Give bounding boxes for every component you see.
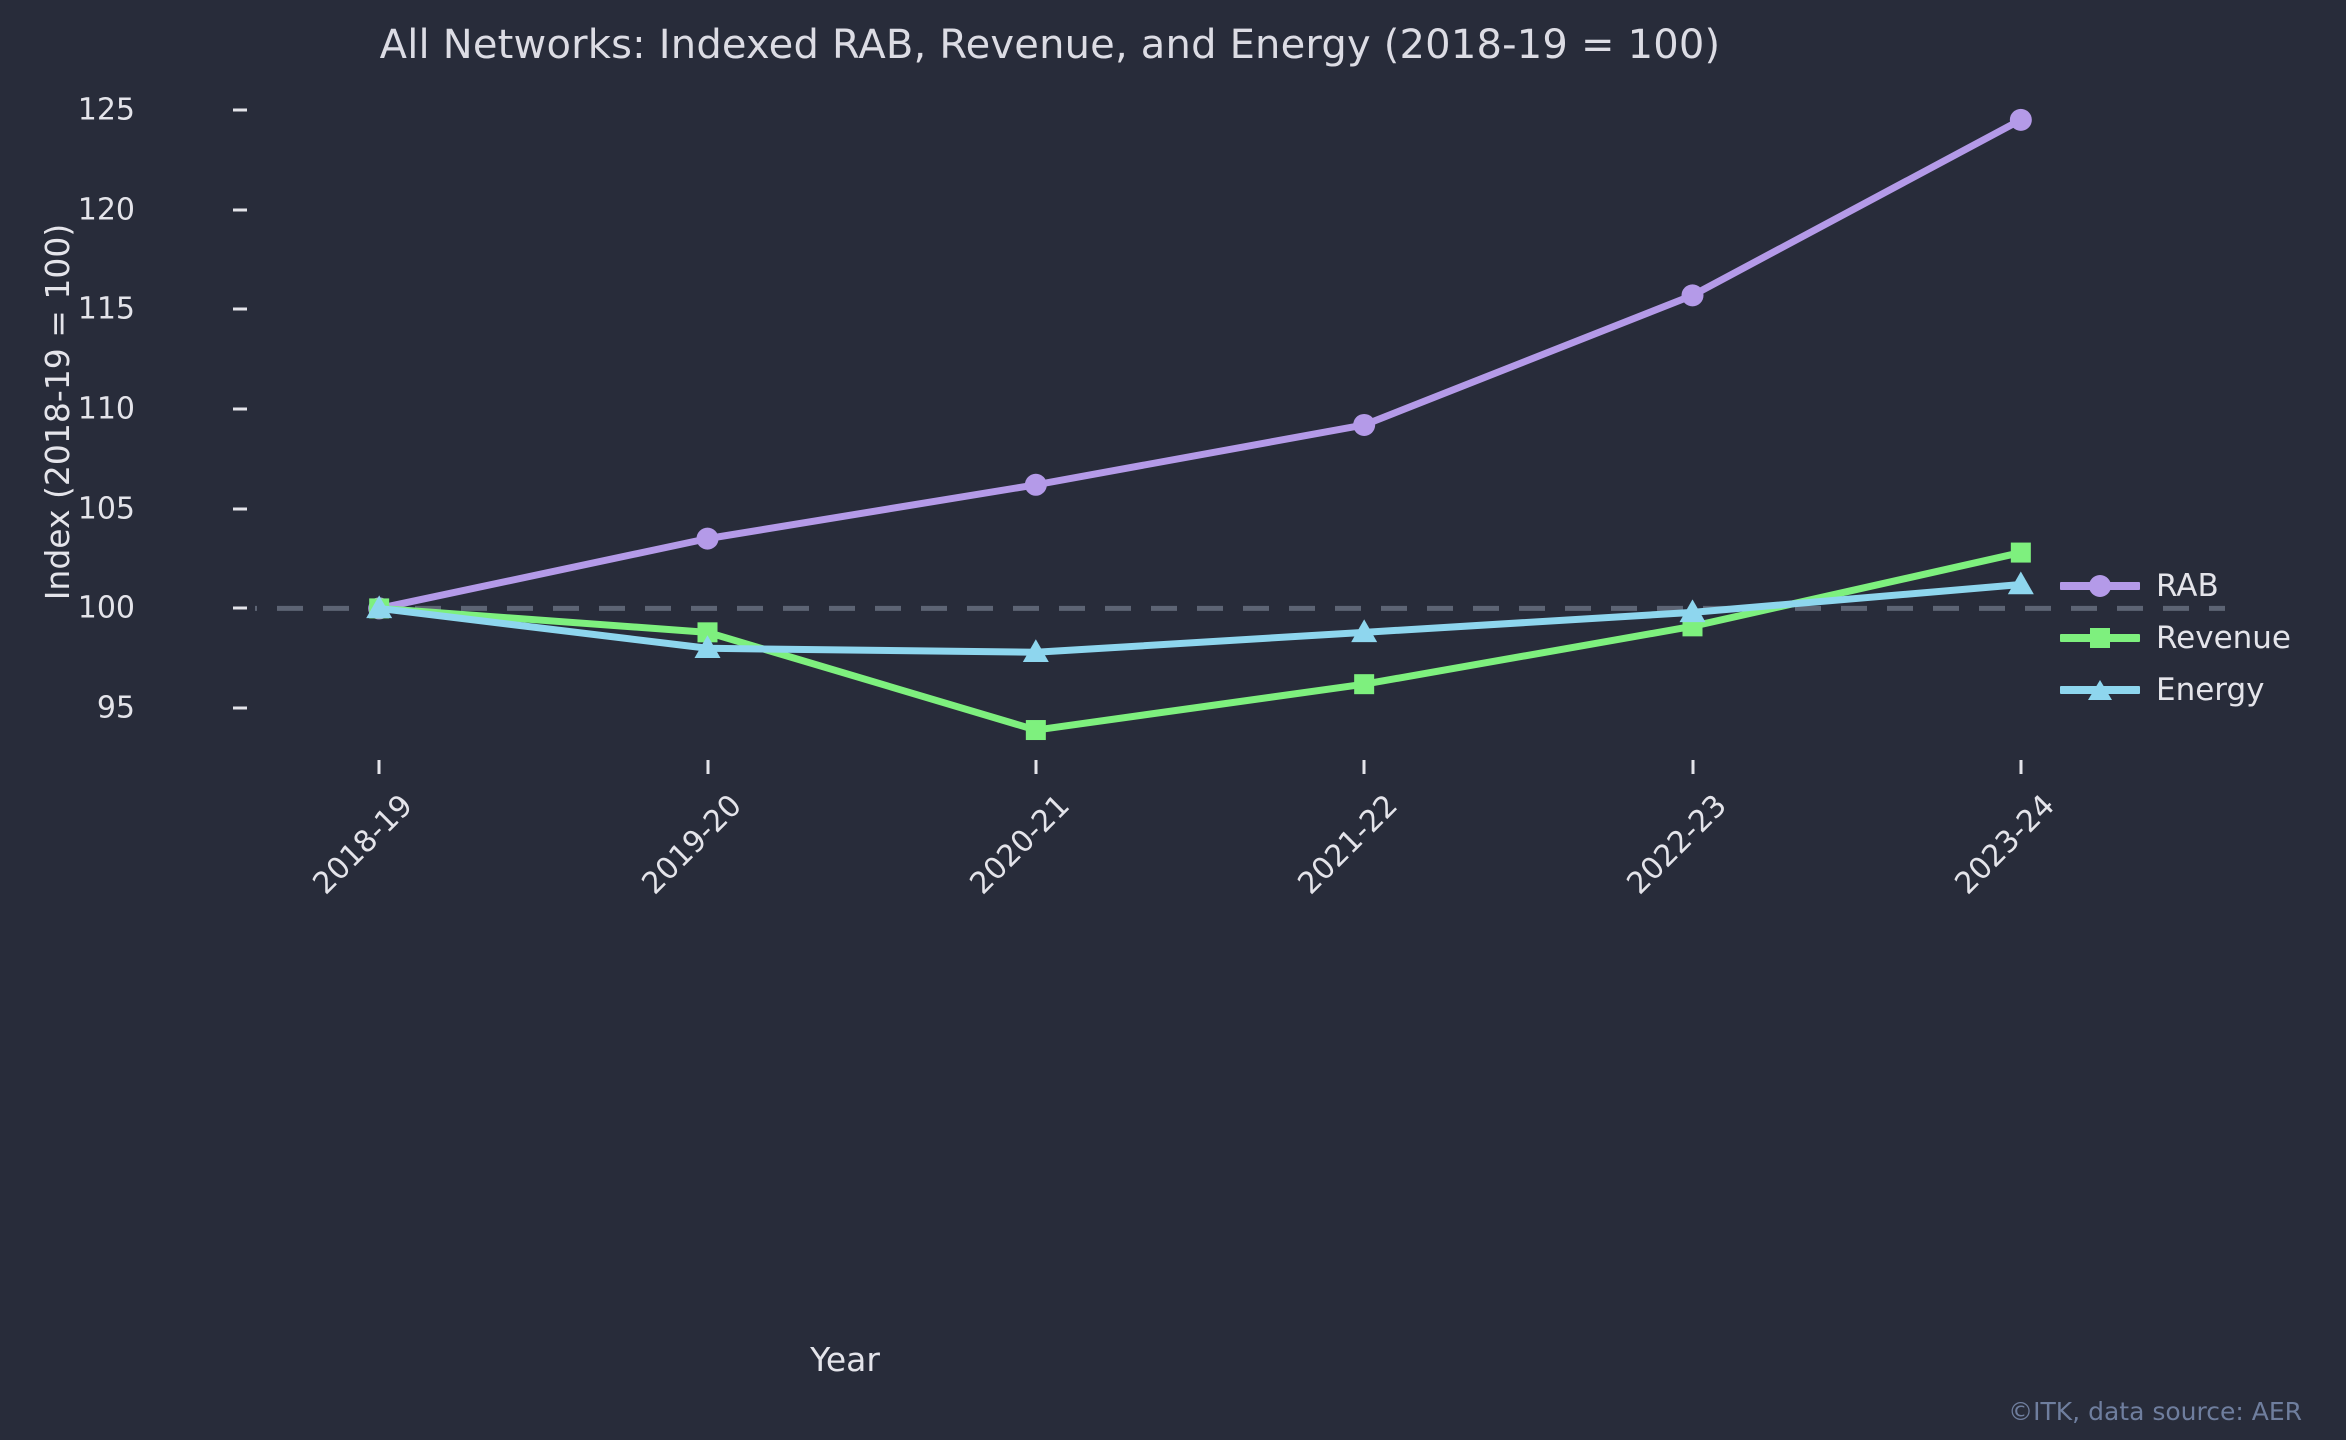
x-axis-tick-label: 2018-19 bbox=[307, 788, 420, 901]
y-axis-tick-mark bbox=[233, 707, 247, 710]
data-point-rab bbox=[697, 528, 719, 550]
data-point-rab bbox=[1353, 414, 1375, 436]
x-axis-label: Year bbox=[0, 1340, 1690, 1379]
y-axis-tick-label: 125 bbox=[0, 92, 135, 127]
x-axis-tick-mark bbox=[706, 760, 709, 774]
x-axis-tick-mark bbox=[2019, 760, 2022, 774]
legend-item-energy[interactable]: Energy bbox=[2060, 664, 2291, 716]
x-axis-tick-mark bbox=[1363, 760, 1366, 774]
legend-label: RAB bbox=[2156, 568, 2219, 604]
y-axis-tick-mark bbox=[233, 308, 247, 311]
x-axis-tick-label: 2022-23 bbox=[1620, 788, 1733, 901]
legend-label: Revenue bbox=[2156, 620, 2291, 656]
data-point-rab bbox=[1682, 284, 1704, 306]
x-axis-tick-mark bbox=[1034, 760, 1037, 774]
chart-credit: ©ITK, data source: AER bbox=[2008, 1397, 2302, 1426]
y-axis-tick-label: 95 bbox=[0, 691, 135, 726]
data-point-revenue bbox=[2011, 543, 2031, 563]
legend-swatch-triangle-icon bbox=[2060, 673, 2140, 707]
series-line-rab bbox=[379, 120, 2021, 609]
legend-item-rab[interactable]: RAB bbox=[2060, 560, 2291, 612]
x-axis-tick-label: 2019-20 bbox=[635, 788, 748, 901]
y-axis-tick-mark bbox=[233, 607, 247, 610]
y-axis-tick-mark bbox=[233, 208, 247, 211]
data-point-rab bbox=[1025, 474, 1047, 496]
x-axis-tick-label: 2020-21 bbox=[963, 788, 1076, 901]
y-axis-tick-label: 115 bbox=[0, 292, 135, 327]
y-axis-tick-label: 110 bbox=[0, 392, 135, 427]
line-chart-canvas bbox=[255, 82, 2225, 742]
legend-swatch-circle-icon bbox=[2060, 569, 2140, 603]
y-axis-tick-label: 120 bbox=[0, 192, 135, 227]
series-energy bbox=[366, 571, 2034, 662]
x-axis-tick-label: 2023-24 bbox=[1948, 788, 2061, 901]
chart-figure: All Networks: Indexed RAB, Revenue, and … bbox=[0, 0, 2346, 1440]
series-rab bbox=[368, 109, 2032, 620]
y-axis-tick-mark bbox=[233, 108, 247, 111]
data-point-revenue bbox=[1026, 720, 1046, 740]
y-axis-tick-mark bbox=[233, 408, 247, 411]
x-axis-tick-mark bbox=[1691, 760, 1694, 774]
chart-title: All Networks: Indexed RAB, Revenue, and … bbox=[0, 22, 2100, 68]
plot-area: 12512011511010510095 2018-192019-202020-… bbox=[255, 82, 2225, 742]
legend-label: Energy bbox=[2156, 672, 2265, 708]
y-axis-tick-label: 105 bbox=[0, 491, 135, 526]
x-axis-tick-mark bbox=[378, 760, 381, 774]
chart-legend: RABRevenueEnergy bbox=[2060, 560, 2291, 716]
x-axis-tick-label: 2021-22 bbox=[1292, 788, 1405, 901]
legend-item-revenue[interactable]: Revenue bbox=[2060, 612, 2291, 664]
data-point-revenue bbox=[1354, 674, 1374, 694]
data-point-rab bbox=[2010, 109, 2032, 131]
y-axis-tick-label: 100 bbox=[0, 591, 135, 626]
legend-swatch-square-icon bbox=[2060, 621, 2140, 655]
y-axis-tick-mark bbox=[233, 507, 247, 510]
series-line-energy bbox=[379, 584, 2021, 652]
